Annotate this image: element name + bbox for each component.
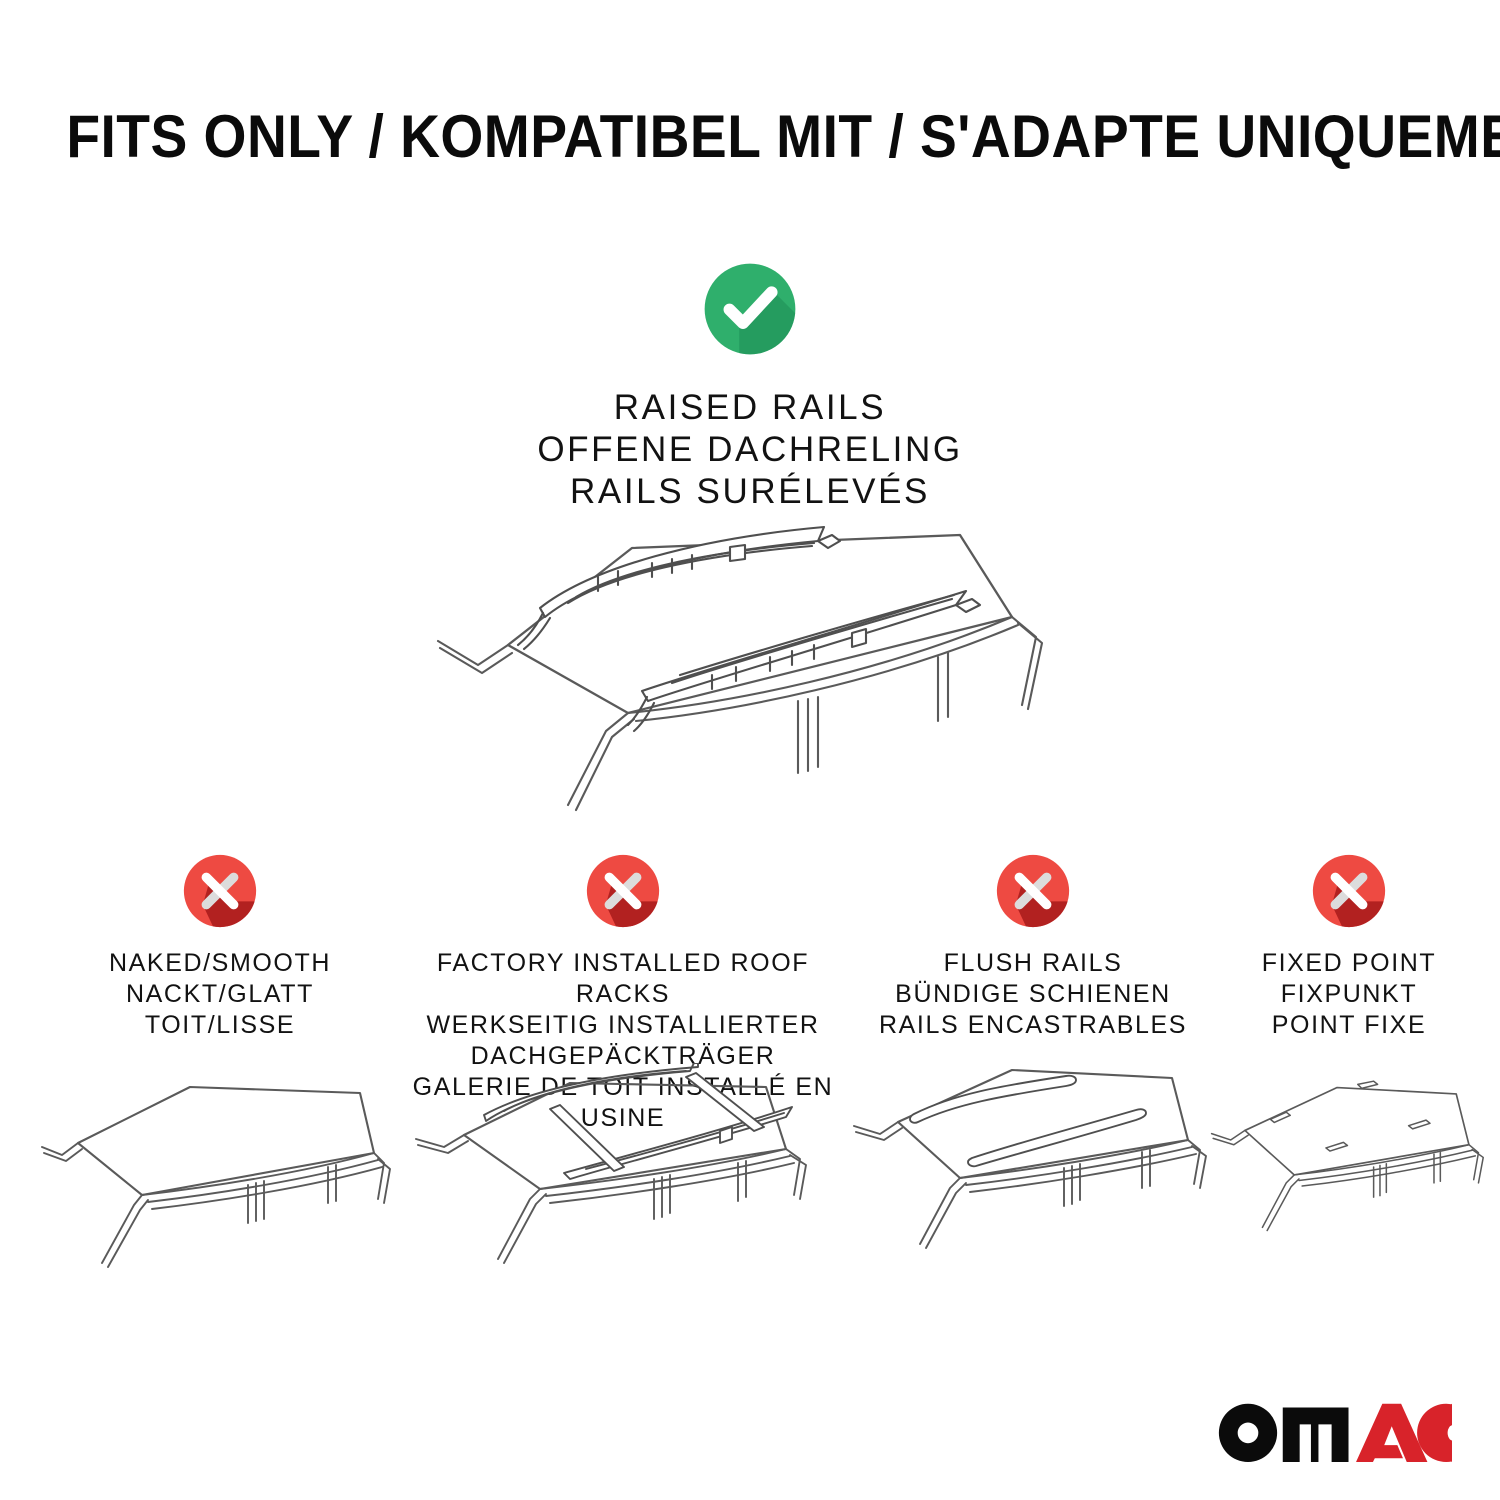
omac-logo (1217, 1400, 1452, 1462)
compatible-label-group: RAISED RAILS OFFENE DACHRELING RAILS SUR… (375, 387, 1125, 513)
compatible-label-en: RAISED RAILS (375, 387, 1125, 429)
check-circle-icon (696, 255, 804, 363)
incompatible-item-factory-racks: FACTORY INSTALLED ROOF RACKS WERKSEITIG … (398, 848, 848, 1134)
logo-letter-m (1283, 1408, 1349, 1462)
page-title-text: FITS ONLY / KOMPATIBEL MIT / S'ADAPTE UN… (66, 104, 1500, 170)
incompatible-item-fixed-point: FIXED POINT FIXPUNKT POINT FIXE (1210, 848, 1488, 1041)
incompatible-label-en: FLUSH RAILS (848, 948, 1218, 979)
incompatible-label-de-1: WERKSEITIG INSTALLIERTER (398, 1010, 848, 1041)
cross-circle-icon (177, 848, 263, 934)
incompatible-label-fr: POINT FIXE (1210, 1010, 1488, 1041)
incompatible-label-en: FACTORY INSTALLED ROOF RACKS (398, 948, 848, 1010)
page-title: FITS ONLY / KOMPATIBEL MIT / S'ADAPTE UN… (0, 104, 1500, 170)
cross-circle-icon (990, 848, 1076, 934)
cross-circle-icon (580, 848, 666, 934)
car-roof-raised-rails-illustration (400, 505, 1100, 825)
car-roof-naked-smooth-illustration (40, 1063, 400, 1293)
incompatible-item-naked-smooth: NAKED/SMOOTH NACKT/GLATT TOIT/LISSE (40, 848, 400, 1041)
incompatible-label-en: NAKED/SMOOTH (40, 948, 400, 979)
incompatible-label-fr: RAILS ENCASTRABLES (848, 1010, 1218, 1041)
logo-letter-a (1356, 1404, 1427, 1462)
compatible-label-de: OFFENE DACHRELING (375, 429, 1125, 471)
incompatible-label-de: FIXPUNKT (1210, 979, 1488, 1010)
incompatible-row: NAKED/SMOOTH NACKT/GLATT TOIT/LISSE (0, 848, 1500, 1468)
car-roof-flush-rails-illustration (848, 1048, 1218, 1278)
cross-circle-icon (1306, 848, 1392, 934)
incompatible-label-group: NAKED/SMOOTH NACKT/GLATT TOIT/LISSE (40, 948, 400, 1041)
incompatible-label-de: BÜNDIGE SCHIENEN (848, 979, 1218, 1010)
car-roof-fixed-point-illustration (1210, 1048, 1488, 1278)
incompatible-label-de: NACKT/GLATT (40, 979, 400, 1010)
incompatible-label-fr: TOIT/LISSE (40, 1010, 400, 1041)
incompatible-label-group: FLUSH RAILS BÜNDIGE SCHIENEN RAILS ENCAS… (848, 948, 1218, 1041)
incompatible-label-en: FIXED POINT (1210, 948, 1488, 979)
car-roof-factory-racks-illustration (398, 1063, 848, 1293)
logo-letter-o (1219, 1404, 1277, 1462)
incompatible-label-group: FIXED POINT FIXPUNKT POINT FIXE (1210, 948, 1488, 1041)
compatible-block: RAISED RAILS OFFENE DACHRELING RAILS SUR… (375, 255, 1125, 513)
incompatible-item-flush-rails: FLUSH RAILS BÜNDIGE SCHIENEN RAILS ENCAS… (848, 848, 1218, 1041)
